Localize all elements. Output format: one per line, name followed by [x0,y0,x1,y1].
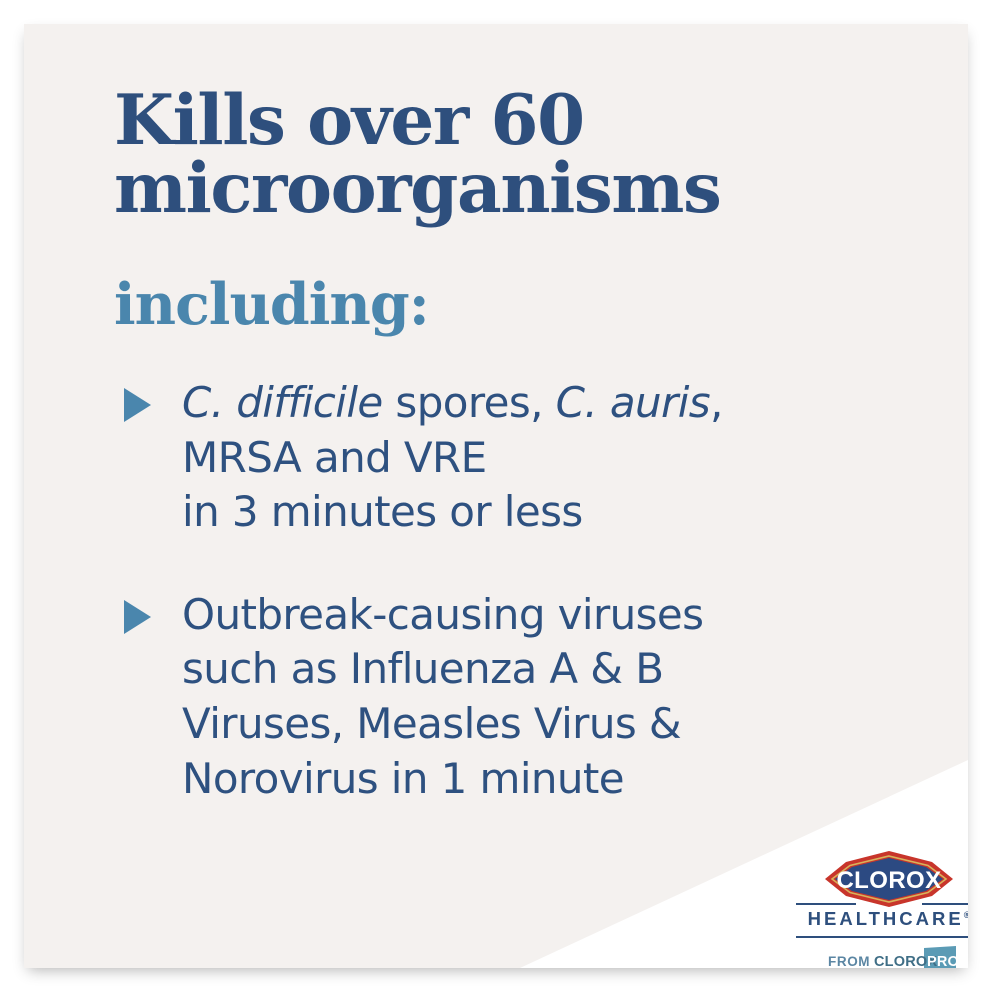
list-item-text: C. difficile spores, C. auris, MRSA and … [182,376,940,540]
clorox-diamond-lockup: CLOROX [796,850,968,906]
clorox-healthcare-logo: CLOROX HEALTHCARE® FROM CLOROX PRO ® [796,850,968,968]
list-item-text: Outbreak-causing viruses such as Influen… [182,588,940,806]
subtitle-including: including: [114,276,429,333]
from-label: FROM [828,954,870,968]
triangle-right-icon [124,388,151,422]
logo-rule-top [796,903,968,905]
organism-name-c-auris: C. auris [556,378,710,427]
logo-division-name: HEALTHCARE® [796,910,968,929]
triangle-right-icon [124,600,151,634]
from-cloroxpro-lockup: FROM CLOROX PRO ® [796,946,968,968]
claim-text-spores: spores, [383,378,556,427]
claims-list: C. difficile spores, C. auris, MRSA and … [110,376,940,806]
registered-trademark-icon: ® [964,910,968,920]
marketing-card: Kills over 60 microorganisms including: … [24,24,968,968]
page-title: Kills over 60 microorganisms [114,87,934,222]
list-item: Outbreak-causing viruses such as Influen… [110,588,940,806]
logo-rule-bottom [796,936,968,938]
list-item: C. difficile spores, C. auris, MRSA and … [110,376,940,540]
organism-name-c-difficile: C. difficile [182,378,383,427]
cloroxpro-pro-part: PRO [927,954,959,968]
poster-canvas: Kills over 60 microorganisms including: … [0,0,990,990]
svg-text:CLOROX: CLOROX [836,867,941,894]
clorox-diamond-icon: CLOROX [824,850,954,908]
logo-division-text: HEALTHCARE [808,908,964,929]
